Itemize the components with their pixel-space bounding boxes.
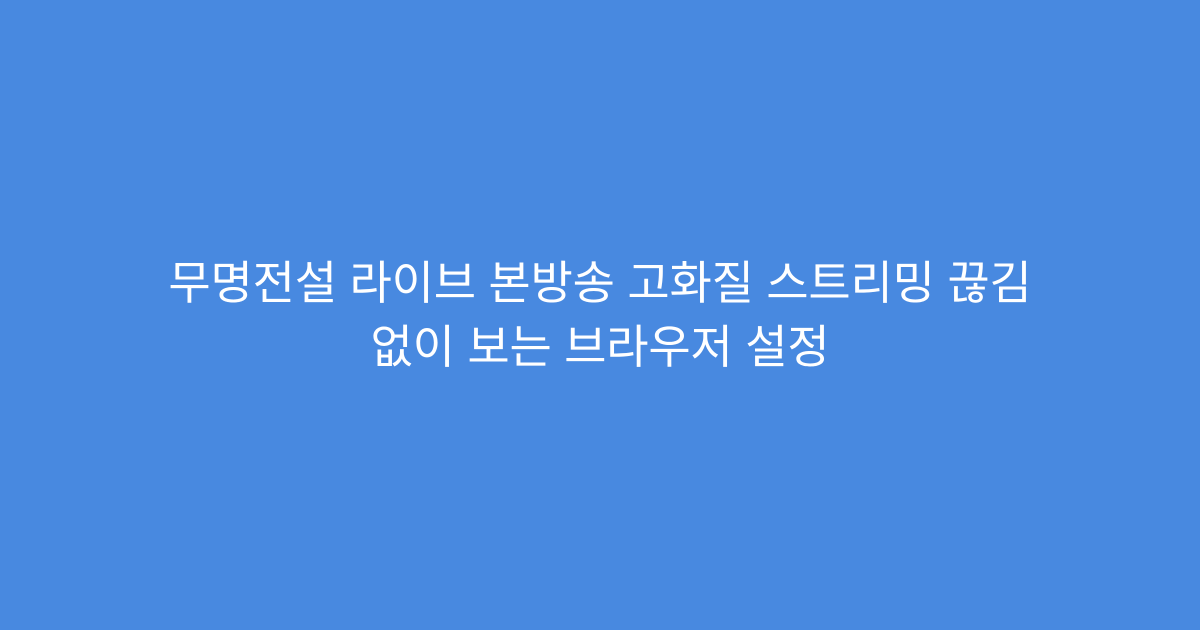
- page-title: 무명전설 라이브 본방송 고화질 스트리밍 끊김 없이 보는 브라우저 설정: [95, 251, 1105, 379]
- headline-block: 무명전설 라이브 본방송 고화질 스트리밍 끊김 없이 보는 브라우저 설정: [95, 251, 1105, 379]
- og-share-card: 무명전설 라이브 본방송 고화질 스트리밍 끊김 없이 보는 브라우저 설정: [0, 0, 1200, 630]
